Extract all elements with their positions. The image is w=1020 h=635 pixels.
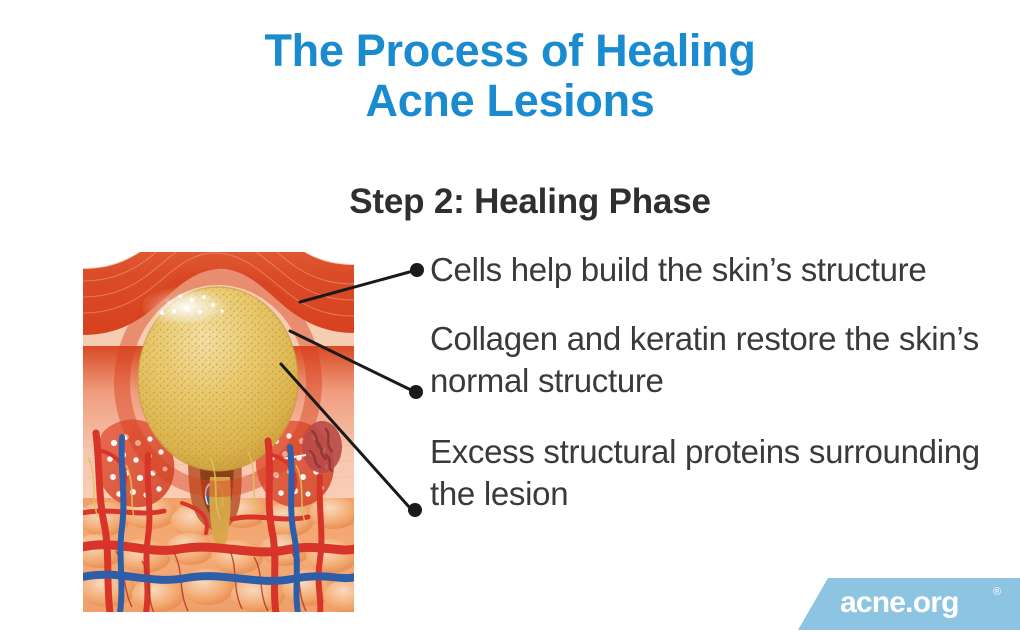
bullet-item-3: Excess structural proteins surrounding t… [430, 431, 1000, 515]
leader-dot-1 [410, 263, 424, 277]
skin-diagram-svg [82, 251, 355, 613]
page-title: The Process of Healing Acne Lesions [70, 26, 950, 126]
skin-cross-section-illustration [82, 251, 355, 613]
leader-dot-3 [408, 503, 422, 517]
title-line-1: The Process of Healing [70, 26, 950, 76]
subtitle-step-heading: Step 2: Healing Phase [180, 182, 880, 222]
bullet-item-1: Cells help build the skin’s structure [430, 249, 1000, 291]
callout-text-list: Cells help build the skin’s structure Co… [430, 249, 1000, 515]
slide-canvas: The Process of Healing Acne Lesions Step… [0, 0, 1020, 630]
title-line-2: Acne Lesions [70, 76, 950, 126]
leader-dot-2 [409, 385, 423, 399]
logo-wordmark: acne.org [840, 585, 959, 621]
registered-trademark-icon: ® [993, 586, 1001, 598]
acne-org-logo[interactable]: acne.org ® [798, 578, 1020, 630]
bullet-item-2: Collagen and keratin restore the skin’s … [430, 318, 1000, 402]
